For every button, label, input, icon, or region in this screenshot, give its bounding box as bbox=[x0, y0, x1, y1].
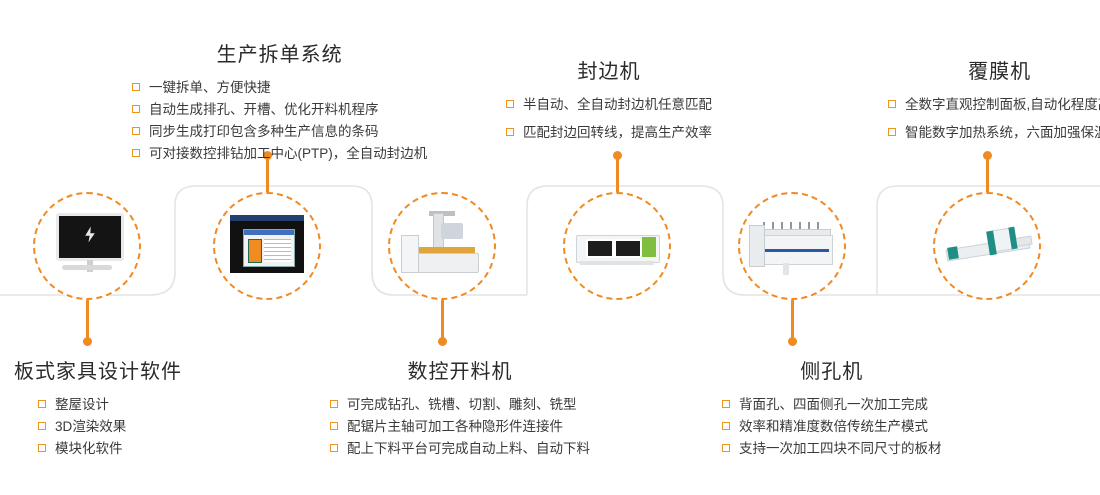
bullet-square-icon bbox=[132, 149, 140, 157]
bullet-square-icon bbox=[888, 128, 896, 136]
process-flow-infographic: 生产拆单系统 一键拆单、方便快捷 自动生成排孔、开槽、优化开料机程序 同步生成打… bbox=[0, 0, 1100, 495]
list-item: 智能数字加热系统，六面加强保温 bbox=[888, 122, 1100, 144]
list-item: 整屋设计 bbox=[38, 394, 182, 416]
block-edge-banding: 封边机 半自动、全自动封边机任意匹配 匹配封边回转线，提高生产效率 bbox=[506, 55, 712, 144]
bullet-square-icon bbox=[722, 400, 730, 408]
block-title: 封边机 bbox=[506, 55, 712, 84]
block-title: 侧孔机 bbox=[722, 355, 942, 384]
laminating-machine-icon bbox=[944, 209, 1030, 283]
bullet-square-icon bbox=[722, 444, 730, 452]
block-title: 生产拆单系统 bbox=[132, 38, 427, 67]
node-edge-banding[interactable] bbox=[563, 192, 671, 300]
list-item-label: 模块化软件 bbox=[55, 441, 123, 456]
bullet-square-icon bbox=[330, 400, 338, 408]
feature-list: 全数字直观控制面板,自动化程度高 智能数字加热系统，六面加强保温 bbox=[888, 94, 1100, 144]
list-item: 全数字直观控制面板,自动化程度高 bbox=[888, 94, 1100, 116]
connector-cnc-cutting bbox=[441, 298, 444, 342]
list-item: 配锯片主轴可加工各种隐形件连接件 bbox=[330, 416, 590, 438]
connector-design-software bbox=[86, 298, 89, 342]
list-item: 自动生成排孔、开槽、优化开料机程序 bbox=[132, 99, 427, 121]
list-item-label: 一键拆单、方便快捷 bbox=[149, 80, 271, 95]
imac-monitor-icon bbox=[44, 209, 130, 283]
bullet-square-icon bbox=[330, 444, 338, 452]
list-item: 模块化软件 bbox=[38, 438, 182, 460]
cnc-router-icon bbox=[399, 209, 485, 283]
feature-list: 半自动、全自动封边机任意匹配 匹配封边回转线，提高生产效率 bbox=[506, 94, 712, 144]
list-item: 半自动、全自动封边机任意匹配 bbox=[506, 94, 712, 116]
list-item: 配上下料平台可完成自动上料、自动下料 bbox=[330, 438, 590, 460]
list-item: 可对接数控排钻加工中心(PTP)，全自动封边机 bbox=[132, 143, 427, 165]
node-laminating[interactable] bbox=[933, 192, 1041, 300]
list-item: 匹配封边回转线，提高生产效率 bbox=[506, 122, 712, 144]
software-window-icon bbox=[224, 209, 310, 283]
node-design-software[interactable] bbox=[33, 192, 141, 300]
list-item-label: 自动生成排孔、开槽、优化开料机程序 bbox=[149, 102, 379, 117]
feature-list: 一键拆单、方便快捷 自动生成排孔、开槽、优化开料机程序 同步生成打印包含多种生产… bbox=[132, 77, 427, 165]
feature-list: 整屋设计 3D渲染效果 模块化软件 bbox=[14, 394, 182, 460]
list-item-label: 全数字直观控制面板,自动化程度高 bbox=[905, 97, 1100, 112]
list-item: 一键拆单、方便快捷 bbox=[132, 77, 427, 99]
list-item: 3D渲染效果 bbox=[38, 416, 182, 438]
list-item-label: 可完成钻孔、铣槽、切割、雕刻、铣型 bbox=[347, 397, 577, 412]
side-drilling-machine-icon bbox=[749, 209, 835, 283]
bullet-square-icon bbox=[330, 422, 338, 430]
list-item-label: 效率和精准度数倍传统生产模式 bbox=[739, 419, 928, 434]
bullet-square-icon bbox=[888, 100, 896, 108]
list-item-label: 3D渲染效果 bbox=[55, 419, 126, 434]
feature-list: 背面孔、四面侧孔一次加工完成 效率和精准度数倍传统生产模式 支持一次加工四块不同… bbox=[722, 394, 942, 460]
block-title: 覆膜机 bbox=[888, 55, 1100, 84]
block-split-order-system: 生产拆单系统 一键拆单、方便快捷 自动生成排孔、开槽、优化开料机程序 同步生成打… bbox=[132, 38, 427, 165]
list-item-label: 配上下料平台可完成自动上料、自动下料 bbox=[347, 441, 590, 456]
list-item-label: 匹配封边回转线，提高生产效率 bbox=[523, 125, 712, 140]
node-cnc-cutting[interactable] bbox=[388, 192, 496, 300]
list-item-label: 半自动、全自动封边机任意匹配 bbox=[523, 97, 712, 112]
connector-side-hole bbox=[791, 298, 794, 342]
list-item-label: 支持一次加工四块不同尺寸的板材 bbox=[739, 441, 942, 456]
list-item-label: 配锯片主轴可加工各种隐形件连接件 bbox=[347, 419, 563, 434]
bullet-square-icon bbox=[506, 100, 514, 108]
list-item-label: 同步生成打印包含多种生产信息的条码 bbox=[149, 124, 379, 139]
node-side-hole[interactable] bbox=[738, 192, 846, 300]
list-item: 可完成钻孔、铣槽、切割、雕刻、铣型 bbox=[330, 394, 590, 416]
list-item: 效率和精准度数倍传统生产模式 bbox=[722, 416, 942, 438]
block-title: 板式家具设计软件 bbox=[14, 355, 182, 384]
bullet-square-icon bbox=[38, 400, 46, 408]
bullet-square-icon bbox=[38, 444, 46, 452]
list-item-label: 可对接数控排钻加工中心(PTP)，全自动封边机 bbox=[149, 146, 427, 161]
block-title: 数控开料机 bbox=[330, 355, 590, 384]
bullet-square-icon bbox=[506, 128, 514, 136]
node-split-order-system[interactable] bbox=[213, 192, 321, 300]
list-item-label: 整屋设计 bbox=[55, 397, 109, 412]
list-item-label: 背面孔、四面侧孔一次加工完成 bbox=[739, 397, 928, 412]
bullet-square-icon bbox=[722, 422, 730, 430]
block-cnc-cutting: 数控开料机 可完成钻孔、铣槽、切割、雕刻、铣型 配锯片主轴可加工各种隐形件连接件… bbox=[330, 355, 590, 460]
bullet-square-icon bbox=[132, 105, 140, 113]
feature-list: 可完成钻孔、铣槽、切割、雕刻、铣型 配锯片主轴可加工各种隐形件连接件 配上下料平… bbox=[330, 394, 590, 460]
block-laminating: 覆膜机 全数字直观控制面板,自动化程度高 智能数字加热系统，六面加强保温 bbox=[888, 55, 1100, 144]
block-side-hole: 侧孔机 背面孔、四面侧孔一次加工完成 效率和精准度数倍传统生产模式 支持一次加工… bbox=[722, 355, 942, 460]
block-design-software: 板式家具设计软件 整屋设计 3D渲染效果 模块化软件 bbox=[14, 355, 182, 460]
bullet-square-icon bbox=[132, 127, 140, 135]
edge-banding-machine-icon bbox=[574, 209, 660, 283]
bullet-square-icon bbox=[38, 422, 46, 430]
list-item: 支持一次加工四块不同尺寸的板材 bbox=[722, 438, 942, 460]
list-item-label: 智能数字加热系统，六面加强保温 bbox=[905, 125, 1100, 140]
list-item: 背面孔、四面侧孔一次加工完成 bbox=[722, 394, 942, 416]
list-item: 同步生成打印包含多种生产信息的条码 bbox=[132, 121, 427, 143]
bullet-square-icon bbox=[132, 83, 140, 91]
